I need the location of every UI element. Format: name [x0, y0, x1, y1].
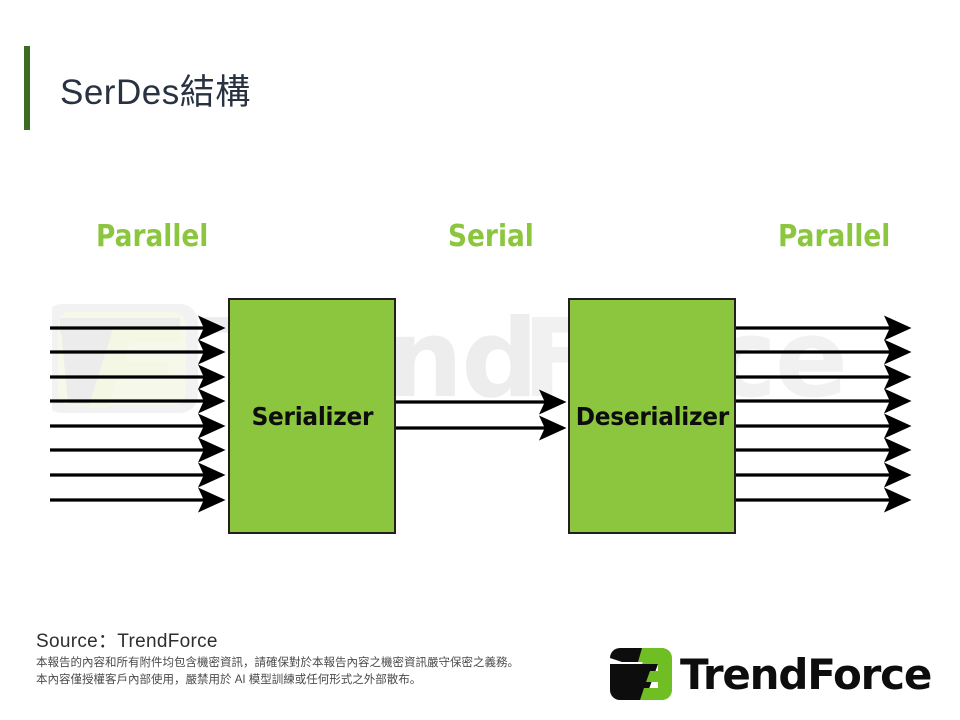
block-serializer: Serializer [228, 298, 396, 534]
source-line: Source：TrendForce [36, 626, 218, 653]
parallel-input-arrows [50, 328, 222, 500]
confidentiality-note: 本報告的內容和所有附件均包含機密資訊，請確保對於本報告內容之機密資訊嚴守保密之義… [36, 655, 519, 689]
trendforce-logo: TrendForce [608, 646, 938, 702]
page-title: SerDes結構 [60, 64, 251, 115]
confidentiality-note-line1: 本報告的內容和所有附件均包含機密資訊，請確保對於本報告內容之機密資訊嚴守保密之義… [36, 655, 519, 672]
serdes-diagram: Parallel Serial Parallel [0, 190, 960, 560]
title-accent-bar [24, 46, 30, 130]
trendforce-logo-mark [610, 648, 672, 700]
block-deserializer: Deserializer [568, 298, 736, 534]
parallel-output-arrows [736, 328, 908, 500]
arrows-layer [0, 190, 960, 560]
trendforce-logo-text: TrendForce [680, 650, 931, 699]
block-deserializer-label: Deserializer [575, 402, 728, 431]
block-serializer-label: Serializer [251, 402, 373, 431]
serial-arrows [396, 402, 563, 428]
confidentiality-note-line2: 本內容僅授權客戶內部使用，嚴禁用於 AI 模型訓練或任何形式之外部散布。 [36, 672, 519, 689]
slide-root: SerDes結構 Trend Force Parallel Serial Par… [0, 0, 960, 720]
